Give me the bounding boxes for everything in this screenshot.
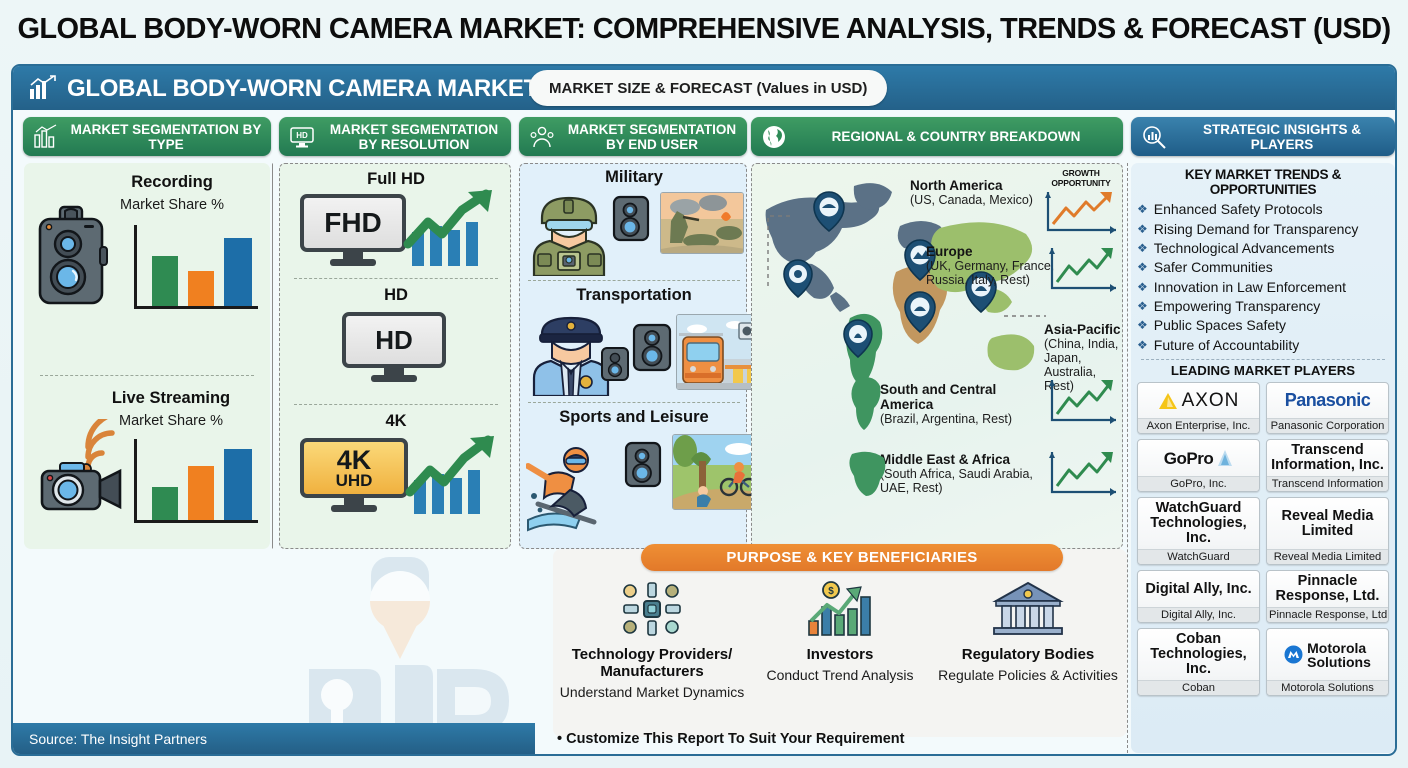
- player-logo: Pinnacle Response, Ltd.: [1267, 571, 1388, 607]
- body-worn-camera-icon: [34, 205, 114, 309]
- player-name: Digital Ally, Inc.: [1138, 607, 1259, 622]
- player-card[interactable]: Pinnacle Response, Ltd.Pinnacle Response…: [1266, 570, 1389, 623]
- player-card[interactable]: AXONAxon Enterprise, Inc.: [1137, 382, 1260, 434]
- trend-label: Safer Communities: [1154, 259, 1273, 275]
- player-card[interactable]: Digital Ally, Inc.Digital Ally, Inc.: [1137, 570, 1260, 623]
- player-card[interactable]: Reveal Media LimitedReveal Media Limited: [1266, 497, 1389, 565]
- header-band: GLOBAL BODY-WORN CAMERA MARKET MARKET SI…: [13, 66, 1395, 110]
- player-logo: GoPro: [1138, 440, 1259, 476]
- photo-bus-station-scene: [676, 314, 762, 390]
- photo-battlefield-scene: [660, 192, 744, 254]
- player-card[interactable]: WatchGuard Technologies, Inc.WatchGuard: [1137, 497, 1260, 565]
- svg-text:HD: HD: [296, 131, 308, 140]
- beneficiary-sub: Conduct Trend Analysis: [745, 667, 935, 684]
- player-logo: AXON: [1138, 383, 1259, 418]
- bar-1: [152, 256, 178, 306]
- trend-label: Empowering Transparency: [1154, 298, 1321, 314]
- monitor-4k: 4K UHD: [300, 438, 408, 512]
- bar-3: [224, 238, 252, 306]
- player-card[interactable]: Coban Technologies, Inc.Coban: [1137, 628, 1260, 696]
- body-worn-camera-icon: [632, 322, 672, 372]
- player-card[interactable]: PanasonicPanasonic Corporation: [1266, 382, 1389, 434]
- player-name: Panasonic Corporation: [1267, 418, 1388, 433]
- panel-strategic-insights: KEY MARKET TRENDS & OPPORTUNITIES ❖Enhan…: [1131, 163, 1395, 753]
- region-middle-east-africa: Middle East & Africa (South Africa, Saud…: [880, 452, 1052, 495]
- diamond-bullet-icon: ❖: [1137, 317, 1148, 334]
- beneficiary-investors: $ Investors Conduct Trend Analysis: [745, 581, 935, 684]
- chart-recording-market-share: [134, 225, 258, 309]
- trend-label: Enhanced Safety Protocols: [1154, 201, 1323, 217]
- svg-text:$: $: [828, 586, 834, 597]
- enduser-title-transportation: Transportation: [520, 286, 748, 305]
- diamond-bullet-icon: ❖: [1137, 259, 1148, 276]
- monitor-hd: HD: [342, 312, 446, 382]
- chip-market-segmentation-by-resolution[interactable]: HD MARKET SEGMENTATION BY RESOLUTION: [279, 117, 511, 156]
- region-south-central-america: South and Central America (Brazil, Argen…: [880, 382, 1052, 426]
- beneficiary-technology-providers: Technology Providers/ Manufacturers Unde…: [557, 581, 747, 701]
- body-worn-camera-icon-small: [600, 346, 630, 382]
- segment-title-live-streaming: Live Streaming: [78, 389, 264, 408]
- photo-mountain-biking-scene: [672, 434, 760, 510]
- uhd-label: UHD: [336, 472, 373, 489]
- chart-4k-growth: [404, 432, 502, 516]
- chip-regional-country-breakdown[interactable]: REGIONAL & COUNTRY BREAKDOWN: [751, 117, 1123, 156]
- region-europe: Europe (UK, Germany, France, Russia, Ita…: [926, 244, 1058, 287]
- divider: [528, 402, 740, 403]
- chip-label: MARKET SEGMENTATION BY TYPE: [67, 122, 271, 152]
- region-north-america: North America (US, Canada, Mexico): [910, 178, 1056, 207]
- divider-vertical-2: [1127, 163, 1128, 753]
- player-name: Coban: [1138, 680, 1259, 695]
- uhd-screen: 4K UHD: [300, 438, 408, 498]
- bar-chart-growth-icon: [29, 75, 57, 101]
- resolution-title-fhd: Full HD: [280, 170, 512, 189]
- divider: [1141, 359, 1385, 360]
- divider: [40, 375, 254, 376]
- player-logo: Digital Ally, Inc.: [1138, 571, 1259, 607]
- chip-market-segmentation-by-end-user[interactable]: MARKET SEGMENTATION BY END USER: [519, 117, 747, 156]
- silhouette-africa: [848, 450, 888, 496]
- body-worn-camera-icon: [612, 194, 650, 242]
- trend-label: Public Spaces Safety: [1154, 317, 1286, 333]
- panel-segmentation-by-end-user: Military: [519, 163, 747, 549]
- player-name: GoPro, Inc.: [1138, 476, 1259, 491]
- trend-label: Technological Advancements: [1154, 240, 1335, 256]
- player-name: WatchGuard: [1138, 549, 1259, 564]
- purpose-heading: PURPOSE & KEY BENEFICIARIES: [641, 544, 1063, 571]
- divider: [294, 278, 498, 279]
- divider: [294, 404, 498, 405]
- body-worn-camera-icon: [624, 440, 662, 488]
- beneficiary-title: Regulatory Bodies: [933, 646, 1123, 663]
- trend-item: ❖Safer Communities: [1131, 258, 1395, 277]
- chip-label: MARKET SEGMENTATION BY RESOLUTION: [323, 122, 511, 152]
- resolution-title-4k: 4K: [280, 412, 512, 431]
- beneficiary-sub: Regulate Policies & Activities: [933, 667, 1123, 684]
- beneficiary-sub: Understand Market Dynamics: [557, 684, 747, 701]
- player-logo: Panasonic: [1267, 383, 1388, 418]
- diamond-bullet-icon: ❖: [1137, 298, 1148, 315]
- page-title: GLOBAL BODY-WORN CAMERA MARKET: COMPREHE…: [0, 13, 1408, 46]
- player-logo: Transcend Information, Inc.: [1267, 440, 1388, 476]
- streaming-camera-icon: [38, 419, 134, 515]
- beneficiary-regulatory-bodies: Regulatory Bodies Regulate Policies & Ac…: [933, 581, 1123, 684]
- fhd-screen-label: FHD: [300, 194, 406, 252]
- hd-screen-label: HD: [342, 312, 446, 368]
- snowboarder-icon: [526, 436, 620, 532]
- beneficiary-title: Investors: [745, 646, 935, 663]
- government-building-icon: [992, 581, 1064, 637]
- monitor-fhd: FHD: [300, 194, 406, 266]
- player-name: Reveal Media Limited: [1267, 549, 1388, 564]
- magnifier-chart-icon: [1141, 124, 1167, 150]
- chart-growth-south-central-america: [1048, 378, 1120, 426]
- trend-item: ❖Innovation in Law Enforcement: [1131, 278, 1395, 297]
- trend-item: ❖Public Spaces Safety: [1131, 316, 1395, 335]
- footer-note: • Customize This Report To Suit Your Req…: [535, 723, 1395, 754]
- enduser-title-military: Military: [520, 168, 748, 187]
- player-card[interactable]: Transcend Information, Inc.Transcend Inf…: [1266, 439, 1389, 492]
- chart-growth-middle-east-africa: [1048, 450, 1120, 498]
- divider-vertical-1: [272, 163, 273, 549]
- axon-logo-icon: [1158, 392, 1178, 410]
- bar-3: [224, 449, 252, 520]
- bar-chart-icon: [33, 124, 59, 150]
- player-logo: MotorolaSolutions: [1267, 629, 1388, 680]
- hd-monitor-icon: HD: [289, 124, 315, 150]
- chart-live-streaming-market-share: [134, 439, 258, 523]
- diamond-bullet-icon: ❖: [1137, 201, 1148, 218]
- trend-item: ❖Enhanced Safety Protocols: [1131, 200, 1395, 219]
- trend-label: Innovation in Law Enforcement: [1154, 279, 1346, 295]
- player-name: Pinnacle Response, Ltd.: [1267, 607, 1388, 622]
- investment-growth-icon: $: [805, 581, 875, 637]
- divider: [528, 280, 740, 281]
- players-grid: AXONAxon Enterprise, Inc.PanasonicPanaso…: [1131, 378, 1395, 696]
- trends-list: ❖Enhanced Safety Protocols❖Rising Demand…: [1131, 197, 1395, 355]
- segment-title-recording: Recording: [82, 173, 262, 192]
- watermark-officer: [287, 553, 547, 733]
- trend-item: ❖Rising Demand for Transparency: [1131, 219, 1395, 238]
- diamond-bullet-icon: ❖: [1137, 337, 1148, 354]
- technology-network-icon: [620, 581, 684, 637]
- panel-purpose-beneficiaries: PURPOSE & KEY BENEFICIARIES Technology P…: [553, 549, 1127, 737]
- trend-item: ❖Empowering Transparency: [1131, 297, 1395, 316]
- chart-fhd-growth: [402, 188, 500, 268]
- infographic-frame: GLOBAL BODY-WORN CAMERA MARKET MARKET SI…: [11, 64, 1397, 756]
- globe-icon: [761, 124, 787, 150]
- trend-label: Future of Accountability: [1154, 337, 1300, 353]
- header-title: GLOBAL BODY-WORN CAMERA MARKET: [67, 75, 538, 103]
- trend-item: ❖Future of Accountability: [1131, 336, 1395, 355]
- trend-label: Rising Demand for Transparency: [1154, 221, 1359, 237]
- fourk-label: 4K: [337, 447, 372, 474]
- infographic-page: GLOBAL BODY-WORN CAMERA MARKET: COMPREHE…: [0, 0, 1408, 768]
- chart-growth-europe: [1048, 246, 1120, 294]
- motorola-logo-icon: [1284, 645, 1303, 664]
- diamond-bullet-icon: ❖: [1137, 240, 1148, 257]
- trends-heading: KEY MARKET TRENDS & OPPORTUNITIES: [1131, 163, 1395, 197]
- soldier-icon: [530, 192, 608, 276]
- chip-label: MARKET SEGMENTATION BY END USER: [563, 122, 747, 152]
- silhouette-south-america: [848, 376, 884, 430]
- panel-segmentation-by-resolution: Full HD FHD HD HD: [279, 163, 511, 549]
- player-name: Transcend Information: [1267, 476, 1388, 491]
- bar-2: [188, 466, 214, 520]
- diamond-bullet-icon: ❖: [1137, 279, 1148, 296]
- gopro-logo-icon: [1217, 449, 1233, 467]
- bar-2: [188, 271, 214, 306]
- people-group-icon: [529, 124, 555, 150]
- player-logo: Reveal Media Limited: [1267, 498, 1388, 549]
- chip-market-segmentation-by-type[interactable]: MARKET SEGMENTATION BY TYPE: [23, 117, 271, 156]
- bar-1: [152, 487, 178, 520]
- beneficiary-title: Technology Providers/ Manufacturers: [557, 646, 747, 680]
- player-name: Axon Enterprise, Inc.: [1138, 418, 1259, 433]
- player-name: Motorola Solutions: [1267, 680, 1388, 695]
- trend-item: ❖Technological Advancements: [1131, 239, 1395, 258]
- market-size-pill: MARKET SIZE & FORECAST (Values in USD): [529, 70, 887, 106]
- region-australia-shape: [988, 334, 1035, 370]
- footer-source: Source: The Insight Partners: [13, 723, 535, 754]
- player-logo: WatchGuard Technologies, Inc.: [1138, 498, 1259, 549]
- chip-strategic-insights-players[interactable]: STRATEGIC INSIGHTS & PLAYERS: [1131, 117, 1395, 156]
- players-heading: LEADING MARKET PLAYERS: [1131, 363, 1395, 378]
- chip-label: STRATEGIC INSIGHTS & PLAYERS: [1175, 122, 1395, 152]
- resolution-title-hd: HD: [280, 286, 512, 305]
- diamond-bullet-icon: ❖: [1137, 221, 1148, 238]
- player-card[interactable]: GoProGoPro, Inc.: [1137, 439, 1260, 492]
- panel-regional-breakdown: GROWTHOPPORTUNITY North America (US, Can…: [751, 163, 1123, 549]
- player-card[interactable]: MotorolaSolutionsMotorola Solutions: [1266, 628, 1389, 696]
- panel-segmentation-by-type: Recording Market Share %: [24, 163, 270, 549]
- enduser-title-sports: Sports and Leisure: [520, 408, 748, 427]
- type-inner: Recording Market Share %: [30, 167, 264, 545]
- player-logo: Coban Technologies, Inc.: [1138, 629, 1259, 680]
- chip-label: REGIONAL & COUNTRY BREAKDOWN: [795, 129, 1123, 144]
